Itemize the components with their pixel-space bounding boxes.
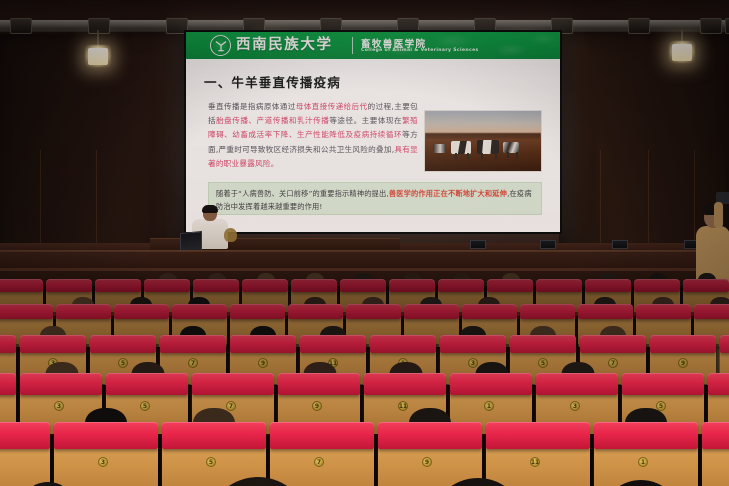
seat-cushion [708, 373, 729, 395]
seat-cushion [683, 279, 729, 292]
seat-cushion [650, 335, 716, 353]
seat-cushion [536, 279, 582, 292]
seat-cushion [578, 304, 633, 319]
slide-text-run: 垂直传播是指病原体通过 [208, 102, 296, 111]
seat-number-plaque: 1 [484, 401, 494, 411]
seat-cushion [0, 422, 50, 449]
note-text-run: 随着于“人病兽防、关口前移”的重要指示精神的提出, [216, 189, 389, 198]
seat-gap [374, 436, 377, 486]
cow-figure [433, 144, 446, 153]
seat-cushion [636, 304, 691, 319]
seat-cushion [389, 279, 435, 292]
seat-cushion [622, 373, 704, 395]
presenter-microphone [224, 228, 237, 242]
auditorium-seat[interactable]: 11 [486, 436, 590, 486]
seat-cushion [462, 304, 517, 319]
seat-number-plaque: 11 [530, 457, 540, 467]
seat-cushion [288, 304, 343, 319]
seat-cushion [702, 422, 729, 449]
seat-cushion [192, 373, 274, 395]
seat-cushion [114, 304, 169, 319]
seat-cushion [230, 335, 296, 353]
cattle-in-pasture-photo [424, 110, 542, 172]
seat-cushion [95, 279, 141, 292]
seat-cushion [162, 422, 266, 449]
seat-cushion [346, 304, 401, 319]
slide-banner: 西南民族大学 畜牧兽医学院 College of Animal & Veteri… [186, 32, 560, 59]
seat-cushion [270, 422, 374, 449]
seat-cushion [56, 304, 111, 319]
seat-cushion [0, 335, 16, 353]
seat-cushion [520, 304, 575, 319]
ceiling-spotlight-icon [700, 18, 722, 34]
seat-number-plaque: 7 [188, 358, 198, 368]
lecture-hall-photo: 西南民族大学 畜牧兽医学院 College of Animal & Veteri… [0, 0, 729, 486]
note-text-accent: 兽医学的作用正在不断地扩大和延伸 [389, 189, 507, 198]
seat-cushion [440, 335, 506, 353]
cow-figure [477, 140, 499, 154]
auditorium-seat[interactable]: 7 [270, 436, 374, 486]
projected-slide: 西南民族大学 畜牧兽医学院 College of Animal & Veteri… [186, 32, 560, 232]
desk-monitor [612, 240, 628, 249]
seat-cushion [230, 304, 285, 319]
pendant-lamp-icon [88, 48, 108, 65]
slide-title: 一、牛羊垂直传播疫病 [204, 72, 341, 91]
seat-cushion [0, 373, 16, 395]
seat-number-plaque: 9 [422, 457, 432, 467]
seat-number-plaque: 9 [258, 358, 268, 368]
seat-cushion [300, 335, 366, 353]
seat-cushion [580, 335, 646, 353]
slide-body-text: 垂直传播是指病原体通过母体直接传递给后代的过程,主要包括胎盘传播、产道传播和乳汁… [208, 100, 418, 171]
seat-cushion [438, 279, 484, 292]
presenter-hair [202, 205, 218, 213]
wall-panel-left [0, 34, 188, 262]
seat-cushion [242, 279, 288, 292]
slide-highlight-note: 随着于“人病兽防、关口前移”的重要指示精神的提出,兽医学的作用正在不断地扩大和延… [208, 182, 542, 215]
slide-text-emphasis: 胎盘传播、产道传播和乳汁传播 [216, 116, 329, 125]
seat-cushion [594, 422, 698, 449]
seat-gap [698, 436, 701, 486]
seat-cushion [340, 279, 386, 292]
seat-cushion [536, 373, 618, 395]
slide-text-emphasis: 母体直接传递给后代 [296, 102, 368, 111]
seat-cushion [510, 335, 576, 353]
seat-cushion [20, 373, 102, 395]
seat-cushion [144, 279, 190, 292]
college-name-en: College of Animal & Veterinary Sciences [361, 48, 479, 53]
desk-monitor [470, 240, 486, 249]
seat-cushion [0, 304, 53, 319]
ceiling-spotlight-icon [10, 18, 32, 34]
ceiling-spotlight-icon [628, 18, 650, 34]
seat-cushion [54, 422, 158, 449]
seat-cushion [291, 279, 337, 292]
seat-cushion [364, 373, 446, 395]
seat-cushion [378, 422, 482, 449]
university-emblem-icon [210, 35, 231, 56]
banner-divider [352, 37, 353, 54]
seat-cushion [90, 335, 156, 353]
auditorium-seat[interactable]: 3 [54, 436, 158, 486]
ceiling-spotlight-icon [725, 18, 729, 34]
seat-cushion [634, 279, 680, 292]
seat-cushion [20, 335, 86, 353]
seat-number-plaque: 3 [570, 401, 580, 411]
seat-cushion [193, 279, 239, 292]
seat-number-plaque: 7 [314, 457, 324, 467]
seat-gap [590, 436, 593, 486]
seat-cushion [450, 373, 532, 395]
seat-cushion [278, 373, 360, 395]
seat-cushion [106, 373, 188, 395]
desk-monitor [540, 240, 556, 249]
seat-cushion [694, 304, 729, 319]
pendant-lamp-icon [672, 44, 692, 61]
seat-cushion [486, 422, 590, 449]
seat-cushion [370, 335, 436, 353]
seat-cushion [160, 335, 226, 353]
seat-cushion [404, 304, 459, 319]
seat-number-plaque: 3 [98, 457, 108, 467]
presenter-at-podium [188, 206, 232, 254]
slide-text-run: 等途径。主要体现在 [329, 116, 402, 125]
seat-cushion [585, 279, 631, 292]
audience-seating: 1357911135791111357911135791357911135 [0, 286, 729, 486]
seat-cushion [720, 335, 729, 353]
auditorium-seat[interactable]: 1 [594, 436, 698, 486]
seat-number-plaque: 9 [312, 401, 322, 411]
seat-gap [158, 436, 161, 486]
seat-gap [50, 436, 53, 486]
seat-number-plaque: 9 [678, 358, 688, 368]
seat-cushion [487, 279, 533, 292]
seat-cushion [46, 279, 92, 292]
seat-cushion [172, 304, 227, 319]
ceiling-spotlight-icon [88, 18, 110, 34]
seat-gap [16, 344, 19, 385]
auditorium-seat[interactable]: 1 [0, 436, 50, 486]
seat-number-plaque: 5 [206, 457, 216, 467]
university-name: 西南民族大学 [236, 36, 333, 55]
stage-rail [0, 268, 729, 271]
seat-number-plaque: 1 [638, 457, 648, 467]
auditorium-seat[interactable]: 3 [702, 436, 729, 486]
seat-cushion [0, 279, 43, 292]
seat-row: 1357911135 [0, 436, 729, 486]
